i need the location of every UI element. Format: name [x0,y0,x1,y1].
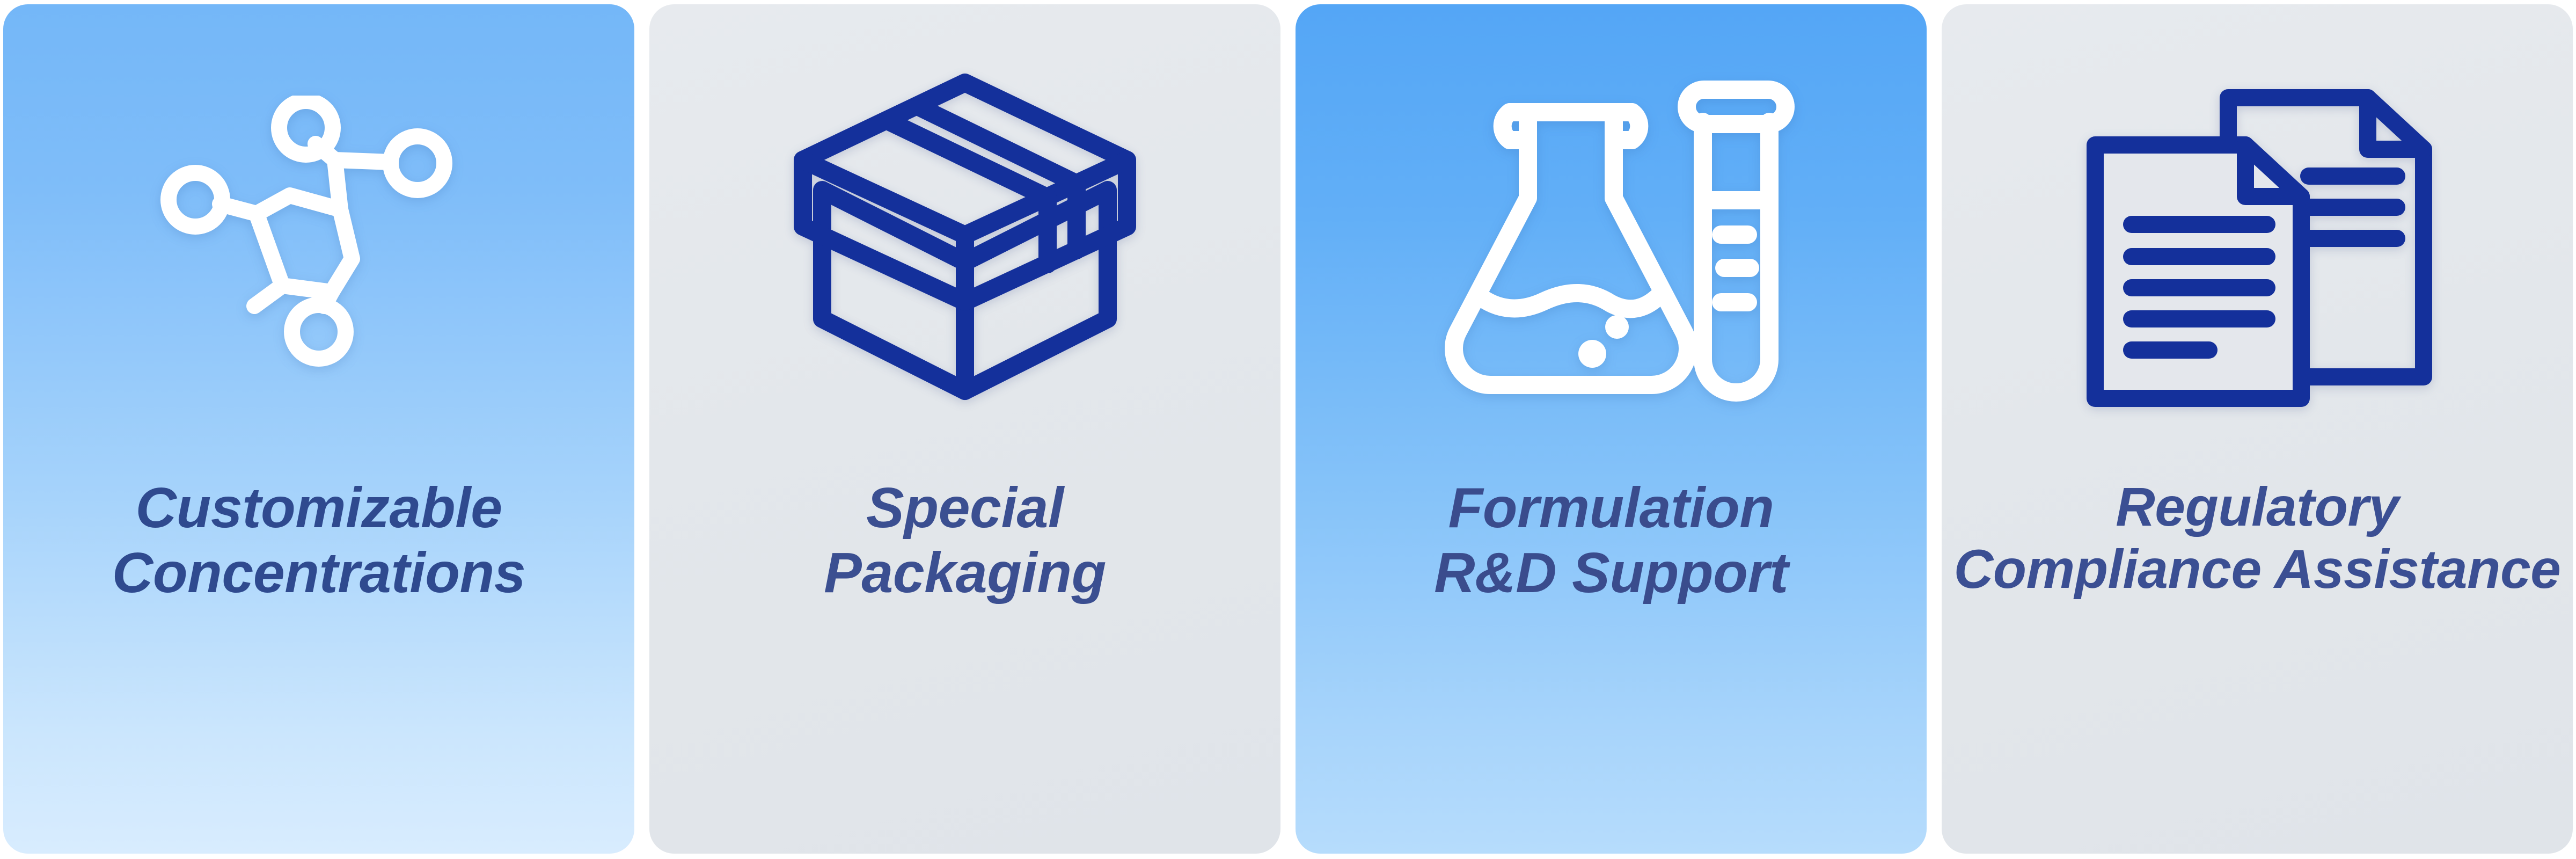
feature-card-formulation-rd-support[interactable]: Formulation R&D Support [1296,4,1927,854]
feature-card-regulatory-compliance-assistance[interactable]: Regulatory Compliance Assistance [1942,4,2573,854]
card-title: Customizable Concentrations [3,476,634,606]
card-title-line-2: R&D Support [1314,541,1908,606]
documents-icon [2069,74,2445,418]
card-title: Formulation R&D Support [1296,476,1927,606]
card-title-line-1: Special [668,476,1262,541]
card-title: Regulatory Compliance Assistance [1942,476,2573,601]
icon-container [3,26,634,466]
feature-card-special-packaging[interactable]: Special Packaging [649,4,1280,854]
card-title: Special Packaging [649,476,1280,606]
card-title-line-2: Compliance Assistance [1946,538,2568,600]
icon-container [1296,26,1927,466]
card-title-line-1: Formulation [1314,476,1908,541]
feature-card-grid: Customizable Concentrations [0,0,2576,859]
molecule-icon [152,96,485,396]
package-box-icon [777,63,1153,428]
card-title-line-2: Packaging [668,541,1262,606]
feature-card-customizable-concentrations[interactable]: Customizable Concentrations [3,4,634,854]
icon-container [1942,26,2573,466]
icon-container [649,26,1280,466]
card-title-line-2: Concentrations [21,541,616,606]
flask-test-tube-icon [1426,71,1796,420]
card-title-line-1: Regulatory [1946,476,2568,538]
card-title-line-1: Customizable [21,476,616,541]
